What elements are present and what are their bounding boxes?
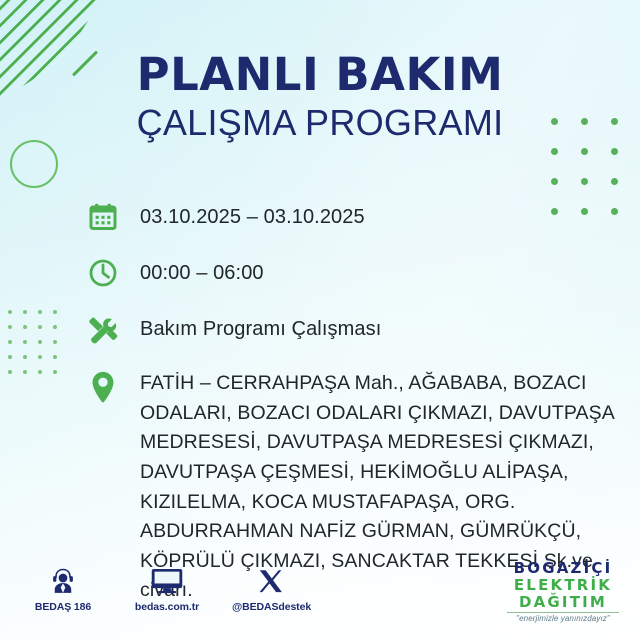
footer-contact-links: BEDAŞ 186 bedas.com.tr [24,562,310,613]
detail-row-date: 03.10.2025 – 03.10.2025 [86,200,626,234]
footer-link-x-account[interactable]: @BEDASdestek [232,562,310,613]
dot [53,325,57,329]
dot [38,355,42,359]
dot [38,325,42,329]
location-pin-icon [86,369,120,405]
footer-link-x-account-label: @BEDASdestek [232,601,310,613]
dot [23,310,27,314]
dot [581,148,588,155]
dot [8,325,12,329]
dot [38,310,42,314]
dot [53,355,57,359]
clock-icon [86,256,120,290]
dot [551,178,558,185]
brand-tagline: "enerjimizle yanınızdayız" [498,614,628,623]
bedas-logo: BOĞAZİÇİ ELEKTRİK DAĞITIM "enerjimizle y… [498,560,628,623]
dot [23,340,27,344]
dot [8,310,12,314]
dot [53,370,57,374]
dot [53,340,57,344]
work-type-value: Bakım Programı Çalışması [140,312,381,342]
brand-divider [507,612,619,613]
tools-icon [86,312,120,347]
footer-link-call-center[interactable]: BEDAŞ 186 [24,562,102,613]
support-agent-icon [24,562,102,596]
dot [53,310,57,314]
dot [551,148,558,155]
dot [581,178,588,185]
page-subtitle: ÇALIŞMA PROGRAMI [0,104,640,142]
x-twitter-icon [232,562,310,596]
brand-line-dagitim: DAĞITIM [498,594,628,611]
calendar-icon [86,200,120,234]
page-title: PLANLI BAKIM [0,52,640,98]
time-range-value: 00:00 – 06:00 [140,256,264,286]
planned-maintenance-poster: PLANLI BAKIM ÇALIŞMA PROGRAMI 03 [0,0,640,640]
dot [8,370,12,374]
dot [8,355,12,359]
dot [38,340,42,344]
date-range-value: 03.10.2025 – 03.10.2025 [140,200,365,230]
dot [611,148,618,155]
dot [23,355,27,359]
dot [23,370,27,374]
footer-link-website[interactable]: bedas.com.tr [128,562,206,613]
maintenance-details-list: 03.10.2025 – 03.10.2025 00:00 – 06:00 [86,200,626,606]
brand-line-elektrik: ELEKTRİK [498,577,628,594]
detail-row-work-type: Bakım Programı Çalışması [86,312,626,347]
footer-link-website-label: bedas.com.tr [128,601,206,613]
dot [23,325,27,329]
poster-header: PLANLI BAKIM ÇALIŞMA PROGRAMI [0,52,640,142]
footer-link-call-center-label: BEDAŞ 186 [24,601,102,613]
dot [8,340,12,344]
poster-footer: BEDAŞ 186 bedas.com.tr [0,554,640,640]
dot [38,370,42,374]
brand-line-bogazici: BOĞAZİÇİ [498,560,628,577]
monitor-icon [128,562,206,596]
dot [611,178,618,185]
circle-outline-decoration [10,140,58,188]
detail-row-time: 00:00 – 06:00 [86,256,626,290]
dot-grid-decoration-left [8,310,68,385]
